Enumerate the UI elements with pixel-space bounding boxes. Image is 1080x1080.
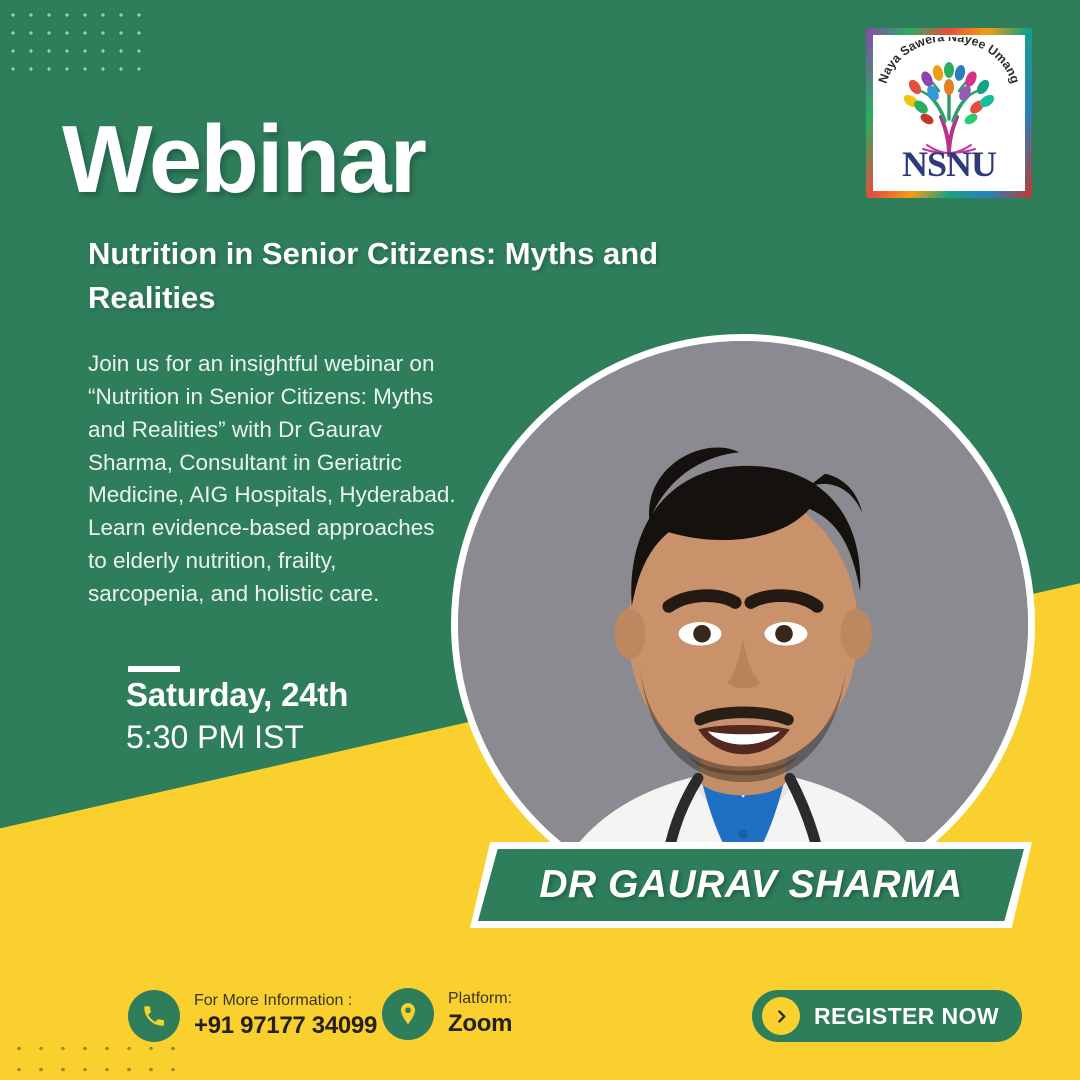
platform-value: Zoom: [448, 1009, 512, 1039]
dot-pattern-top-left: [4, 6, 146, 84]
webinar-subtitle: Nutrition in Senior Citizens: Myths and …: [88, 232, 748, 320]
date-divider-rule: [128, 666, 180, 672]
speaker-name: DR GAURAV SHARMA: [539, 863, 962, 907]
chevron-right-icon: [762, 997, 800, 1035]
dot-pattern-bottom-left: [8, 1038, 188, 1080]
phone-icon: [128, 990, 180, 1042]
platform-label: Platform:: [448, 989, 512, 1009]
speaker-photo: [451, 334, 1035, 914]
register-now-label: REGISTER NOW: [814, 1003, 999, 1030]
register-now-button[interactable]: REGISTER NOW: [752, 990, 1022, 1042]
event-date: Saturday, 24th: [126, 676, 348, 714]
webinar-poster: Naya Sawera Nayee Umang: [0, 0, 1080, 1080]
page-title: Webinar: [62, 112, 425, 208]
logo-acronym: NSNU: [873, 143, 1025, 185]
contact-phone-number: +91 97177 34099: [194, 1011, 377, 1041]
location-pin-icon: [382, 988, 434, 1040]
event-time: 5:30 PM IST: [126, 719, 304, 756]
contact-label: For More Information :: [194, 991, 377, 1011]
contact-info[interactable]: For More Information : +91 97177 34099: [128, 990, 377, 1042]
organization-logo: Naya Sawera Nayee Umang: [866, 28, 1032, 198]
logo-inner-card: Naya Sawera Nayee Umang: [873, 35, 1025, 191]
contact-text: For More Information : +91 97177 34099: [194, 991, 377, 1041]
platform-info: Platform: Zoom: [382, 988, 512, 1040]
platform-text: Platform: Zoom: [448, 989, 512, 1039]
portrait-illustration-icon: [458, 341, 1028, 907]
webinar-description: Join us for an insightful webinar on “Nu…: [88, 348, 456, 611]
banner-green-plate: DR GAURAV SHARMA: [478, 849, 1024, 921]
speaker-name-banner: DR GAURAV SHARMA: [470, 842, 1032, 928]
